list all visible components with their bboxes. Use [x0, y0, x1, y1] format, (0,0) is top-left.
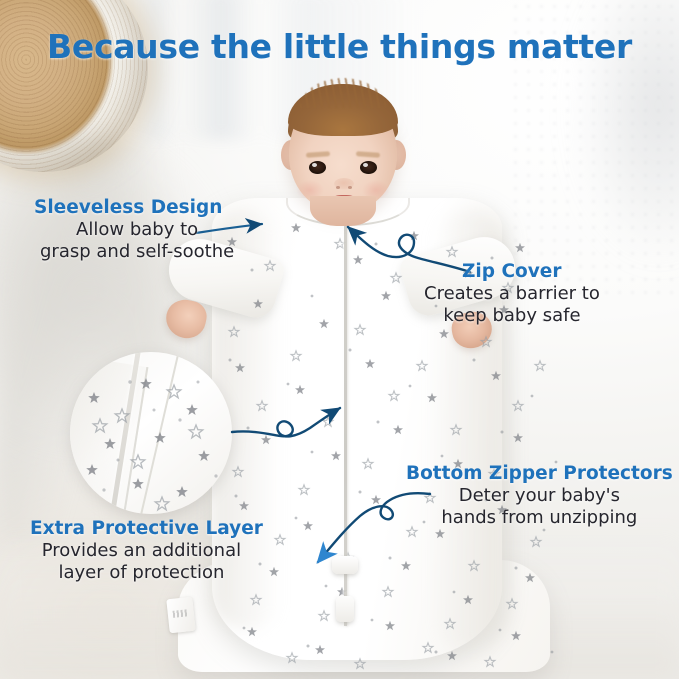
callout-body-line-2: grasp and self-soothe: [34, 241, 234, 263]
callout-body-line-2: keep baby safe: [424, 305, 600, 327]
callout-bottom-zipper-protectors: Bottom Zipper Protectors Deter your baby…: [406, 464, 673, 529]
callout-heading: Bottom Zipper Protectors: [406, 464, 673, 485]
fabric-detail-inset: [70, 352, 232, 514]
callout-body-line-2: layer of protection: [20, 562, 263, 584]
callout-body-line-1: Deter your baby's: [406, 485, 673, 507]
page-title: Because the little things matter: [0, 27, 679, 66]
baby-eye-highlight-left: [312, 163, 317, 167]
callout-heading: Zip Cover: [424, 262, 600, 283]
callout-body-line-1: Creates a barrier to: [424, 283, 600, 305]
baby-nostril-left: [336, 186, 340, 189]
callout-heading: Extra Protective Layer: [20, 519, 263, 540]
baby-nostril-right: [348, 186, 352, 189]
baby-neck: [310, 196, 376, 226]
callout-zip-cover: Zip Cover Creates a barrier to keep baby…: [424, 262, 600, 327]
care-label-tag: [166, 597, 195, 634]
callout-heading: Sleeveless Design: [34, 198, 234, 219]
callout-body-line-2: hands from unzipping: [406, 507, 673, 529]
callout-extra-protective-layer: Extra Protective Layer Provides an addit…: [20, 519, 263, 584]
baby-eye-highlight-right: [363, 163, 368, 167]
callout-body-line-1: Allow baby to: [34, 219, 234, 241]
callout-sleeveless-design: Sleeveless Design Allow baby to grasp an…: [34, 198, 234, 263]
bottom-zipper-protector-upper: [332, 556, 358, 574]
product-infographic: Because the little things matter Sleevel…: [0, 0, 679, 679]
callout-body-line-1: Provides an additional: [20, 540, 263, 562]
bottom-zipper-protector-lower: [336, 596, 354, 622]
